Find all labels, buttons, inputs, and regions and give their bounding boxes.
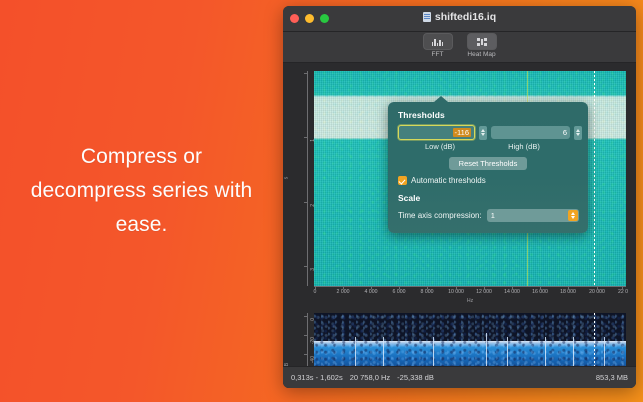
promo-line-2: decompress series with <box>0 174 283 208</box>
toolbar-label-heat-map: Heat Map <box>467 51 495 58</box>
time-axis-compression-value: 1 <box>491 211 495 220</box>
spectrogram-y-axis-line <box>307 71 308 286</box>
scale-heading: Scale <box>398 193 588 203</box>
thresholds-heading: Thresholds <box>398 110 588 120</box>
spectrogram-y-tick <box>304 202 307 203</box>
x-tick-label: 10 000 <box>448 289 464 295</box>
window-title-text: shiftedi16.iq <box>435 11 496 23</box>
stepper-up-icon[interactable] <box>576 129 580 132</box>
x-tick-label: 16 000 <box>532 289 548 295</box>
promo-line-1: Compress or <box>0 140 283 174</box>
x-axis-line <box>314 286 626 287</box>
status-frequency: 20 758,0 Hz <box>350 373 390 382</box>
spectrogram-y-tick <box>304 73 307 74</box>
spectrogram-y-tick <box>304 266 307 267</box>
x-tick-label: 4 000 <box>365 289 378 295</box>
status-file-size: 853,3 MB <box>596 373 628 382</box>
x-tick-label: 20 000 <box>589 289 605 295</box>
stepper-up-icon[interactable] <box>481 129 485 132</box>
x-axis-unit-label: Hz <box>314 298 626 304</box>
automatic-thresholds-label: Automatic thresholds <box>411 176 486 185</box>
plot-area: 1 2 3 s 0 2 000 4 000 6 000 <box>283 63 636 388</box>
time-axis-compression-stepper[interactable] <box>568 210 578 221</box>
high-threshold-stepper[interactable] <box>574 126 582 140</box>
time-axis-compression-row: Time axis compression: 1 <box>398 209 588 222</box>
checkbox-checked-icon[interactable] <box>398 176 407 185</box>
stepper-down-icon[interactable] <box>576 133 580 136</box>
toolbar-item-fft[interactable]: FFT <box>420 33 456 58</box>
title-bar: shiftedi16.iq <box>283 6 636 32</box>
spectrogram-cursor-line <box>594 71 595 286</box>
spectrogram-y-axis-label: s <box>283 177 289 180</box>
toolbar: FFT Heat Map <box>283 32 636 63</box>
popover-arrow <box>434 96 448 102</box>
reset-thresholds-button[interactable]: Reset Thresholds <box>449 157 527 170</box>
threshold-labels-row: Low (dB) High (dB) <box>398 142 588 151</box>
x-tick-label: 22 0 <box>618 289 628 295</box>
x-tick-label: 8 000 <box>421 289 434 295</box>
time-axis-compression-label: Time axis compression: <box>398 211 482 220</box>
x-tick-label: 2 000 <box>337 289 350 295</box>
stepper-down-icon[interactable] <box>571 216 575 219</box>
promo-line-3: ease. <box>0 208 283 242</box>
low-threshold-value: -116 <box>453 128 471 137</box>
x-tick-label: 12 000 <box>476 289 492 295</box>
promo-text: Compress or decompress series with ease. <box>0 140 283 242</box>
bar-chart-glyph <box>432 38 444 46</box>
document-icon <box>423 12 431 22</box>
time-axis-compression-input[interactable]: 1 <box>487 209 579 222</box>
toolbar-label-fft: FFT <box>432 51 444 58</box>
bar-chart-icon[interactable] <box>423 33 453 50</box>
x-tick-label: 0 <box>314 289 317 295</box>
toolbar-item-heat-map[interactable]: Heat Map <box>464 33 500 58</box>
app-window: shiftedi16.iq FFT Heat Map <box>283 6 636 388</box>
automatic-thresholds-row[interactable]: Automatic thresholds <box>398 176 588 185</box>
high-threshold-label: High (dB) <box>482 142 566 151</box>
stepper-up-icon[interactable] <box>571 212 575 215</box>
status-left-group: 0,313s - 1,602s 20 758,0 Hz -25,338 dB <box>291 373 434 382</box>
thresholds-popover: Thresholds -116 6 Low (dB) <box>388 102 588 233</box>
stepper-down-icon[interactable] <box>481 133 485 136</box>
low-threshold-input[interactable]: -116 <box>398 125 475 140</box>
heat-map-glyph <box>477 38 487 46</box>
x-tick-label: 14 000 <box>504 289 520 295</box>
status-time-range: 0,313s - 1,602s <box>291 373 343 382</box>
spectrogram-y-tick <box>304 137 307 138</box>
status-level: -25,338 dB <box>397 373 434 382</box>
low-threshold-label: Low (dB) <box>398 142 482 151</box>
heat-map-icon[interactable] <box>467 33 497 50</box>
high-threshold-input[interactable]: 6 <box>491 126 570 139</box>
x-tick-label: 18 000 <box>560 289 576 295</box>
x-tick-label: 6 000 <box>393 289 406 295</box>
low-threshold-stepper[interactable] <box>479 126 487 140</box>
threshold-fields-row: -116 6 <box>398 125 588 140</box>
high-threshold-value: 6 <box>563 128 567 137</box>
status-bar: 0,313s - 1,602s 20 758,0 Hz -25,338 dB 8… <box>283 366 636 388</box>
window-title: shiftedi16.iq <box>283 11 636 23</box>
spectrogram-x-axis: 0 2 000 4 000 6 000 8 000 10 000 12 000 … <box>314 286 626 308</box>
